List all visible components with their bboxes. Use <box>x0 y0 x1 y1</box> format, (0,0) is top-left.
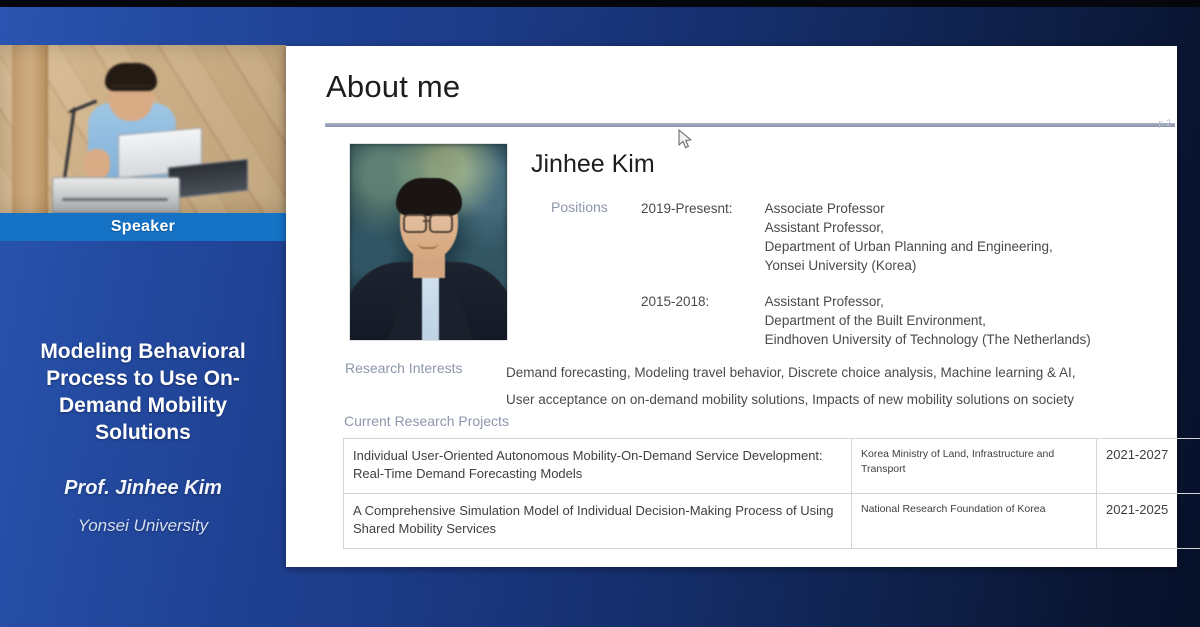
position-details: Assistant Professor, Department of the B… <box>765 292 1091 349</box>
current-research-projects-label: Current Research Projects <box>344 413 509 429</box>
position-line: Assistant Professor, <box>765 292 1091 311</box>
project-funder: National Research Foundation of Korea <box>852 493 1097 548</box>
position-period: 2015-2018: <box>641 292 765 349</box>
top-black-strip <box>0 0 1200 7</box>
position-line: Eindhoven University of Technology (The … <box>765 330 1091 349</box>
position-line: Assistant Professor, <box>765 218 1091 237</box>
person-name: Jinhee Kim <box>531 150 655 179</box>
speaker-role-badge: Speaker <box>0 213 286 241</box>
positions-spacer <box>641 276 1091 292</box>
speaker-video-feed[interactable] <box>0 45 286 213</box>
research-interests-line: User acceptance on on-demand mobility so… <box>506 386 1166 413</box>
slide-page-number: p.2 <box>1158 118 1171 128</box>
position-row: 2019-Presesnt: Associate Professor Assis… <box>641 199 1091 276</box>
project-years: 2021-2027 <box>1097 439 1200 494</box>
project-title: Individual User-Oriented Autonomous Mobi… <box>344 439 852 494</box>
video-blur-overlay <box>0 45 286 213</box>
position-line: Associate Professor <box>765 199 1091 218</box>
project-funder: Korea Ministry of Land, Infrastructure a… <box>852 439 1097 494</box>
position-row: 2015-2018: Assistant Professor, Departme… <box>641 292 1091 349</box>
portrait-blur-overlay <box>350 144 507 340</box>
position-period: 2019-Presesnt: <box>641 199 765 276</box>
position-details: Associate Professor Assistant Professor,… <box>765 199 1091 276</box>
project-years: 2021-2025 <box>1097 493 1200 548</box>
positions-label: Positions <box>551 199 608 215</box>
table-row: Individual User-Oriented Autonomous Mobi… <box>344 439 1200 494</box>
speaker-panel: Speaker Modeling Behavioral Process to U… <box>0 45 286 627</box>
position-line: Department of the Built Environment, <box>765 311 1091 330</box>
talk-title: Modeling Behavioral Process to Use On-De… <box>0 241 286 447</box>
position-line: Yonsei University (Korea) <box>765 256 1091 275</box>
slide-title-divider <box>325 123 1175 127</box>
table-row: A Comprehensive Simulation Model of Indi… <box>344 493 1200 548</box>
position-line: Department of Urban Planning and Enginee… <box>765 237 1091 256</box>
webinar-viewer: Speaker Modeling Behavioral Process to U… <box>0 0 1200 627</box>
talk-presenter-name: Prof. Jinhee Kim <box>0 447 286 500</box>
positions-table: 2019-Presesnt: Associate Professor Assis… <box>641 199 1091 349</box>
portrait-photo <box>349 143 508 341</box>
research-interests-label: Research Interests <box>345 360 463 376</box>
talk-presenter-affiliation: Yonsei University <box>0 500 286 536</box>
research-interests-body: Demand forecasting, Modeling travel beha… <box>506 359 1166 413</box>
research-interests-line: Demand forecasting, Modeling travel beha… <box>506 359 1166 386</box>
talk-info-block: Modeling Behavioral Process to Use On-De… <box>0 241 286 536</box>
slide-heading: About me <box>326 69 460 105</box>
slide-panel[interactable]: About me p.2 Jinhee Kim Positions 2019-P… <box>286 46 1177 567</box>
project-title: A Comprehensive Simulation Model of Indi… <box>344 493 852 548</box>
projects-table: Individual User-Oriented Autonomous Mobi… <box>343 438 1200 549</box>
